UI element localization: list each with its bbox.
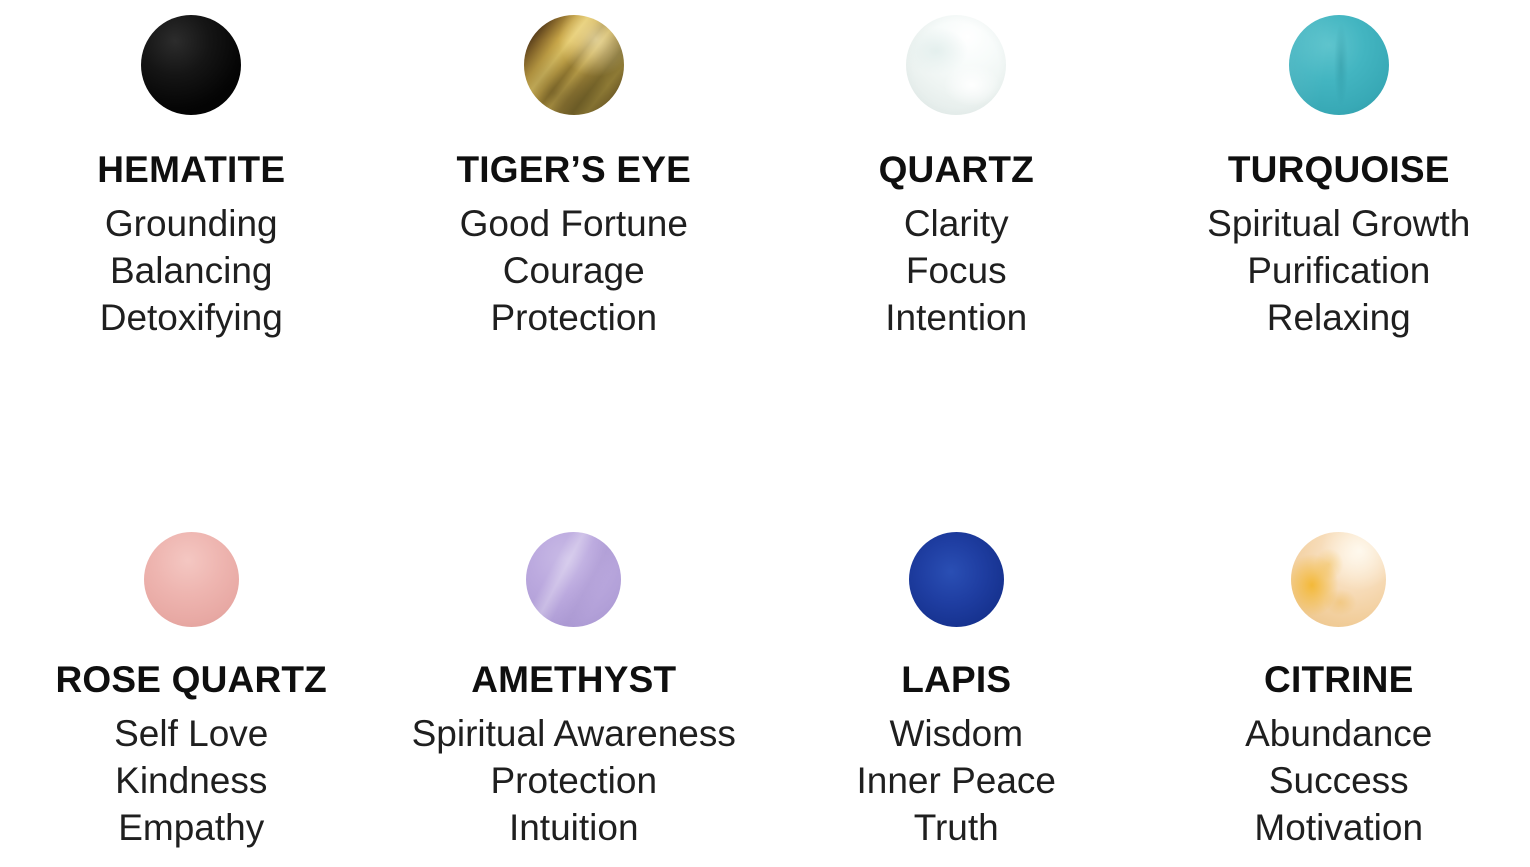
stone-property: Wisdom bbox=[856, 710, 1056, 757]
stone-image-slot bbox=[1289, 0, 1389, 120]
stone-property: Motivation bbox=[1245, 804, 1432, 851]
lapis-stone-icon bbox=[909, 532, 1004, 627]
stone-properties-tigers-eye: Good Fortune Courage Protection bbox=[460, 200, 688, 341]
stone-properties-lapis: Wisdom Inner Peace Truth bbox=[856, 710, 1056, 851]
stone-row-bottom: ROSE QUARTZ Self Love Kindness Empathy A… bbox=[0, 517, 1530, 851]
stone-property: Focus bbox=[885, 247, 1027, 294]
stone-card-citrine[interactable]: CITRINE Abundance Success Motivation bbox=[1148, 517, 1530, 851]
stone-property: Balancing bbox=[100, 247, 283, 294]
stone-properties-citrine: Abundance Success Motivation bbox=[1245, 710, 1432, 851]
stone-property: Courage bbox=[460, 247, 688, 294]
stone-property: Kindness bbox=[114, 757, 268, 804]
stone-card-turquoise[interactable]: TURQUOISE Spiritual Growth Purification … bbox=[1148, 0, 1530, 341]
stone-property: Spiritual Awareness bbox=[412, 710, 736, 757]
stone-property: Protection bbox=[412, 757, 736, 804]
stone-row-top: HEMATITE Grounding Balancing Detoxifying… bbox=[0, 0, 1530, 341]
hematite-stone-icon bbox=[141, 15, 241, 115]
stone-property: Good Fortune bbox=[460, 200, 688, 247]
stone-image-slot bbox=[906, 0, 1006, 120]
stone-card-quartz[interactable]: QUARTZ Clarity Focus Intention bbox=[765, 0, 1148, 341]
stone-image-slot bbox=[141, 0, 241, 120]
stone-properties-amethyst: Spiritual Awareness Protection Intuition bbox=[412, 710, 736, 851]
stone-card-rose-quartz[interactable]: ROSE QUARTZ Self Love Kindness Empathy bbox=[0, 517, 383, 851]
gemstone-properties-chart: HEMATITE Grounding Balancing Detoxifying… bbox=[0, 0, 1530, 867]
stone-name-tigers-eye: TIGER’S EYE bbox=[456, 151, 691, 188]
stone-property: Abundance bbox=[1245, 710, 1432, 757]
stone-properties-rose-quartz: Self Love Kindness Empathy bbox=[114, 710, 268, 851]
stone-name-hematite: HEMATITE bbox=[97, 151, 285, 188]
stone-name-quartz: QUARTZ bbox=[879, 151, 1034, 188]
stone-property: Self Love bbox=[114, 710, 268, 757]
stone-card-amethyst[interactable]: AMETHYST Spiritual Awareness Protection … bbox=[383, 517, 766, 851]
citrine-stone-icon bbox=[1291, 532, 1386, 627]
stone-image-slot bbox=[909, 517, 1004, 629]
tigers-eye-stone-icon bbox=[524, 15, 624, 115]
stone-property: Intention bbox=[885, 294, 1027, 341]
stone-property: Intuition bbox=[412, 804, 736, 851]
stone-property: Detoxifying bbox=[100, 294, 283, 341]
stone-name-turquoise: TURQUOISE bbox=[1228, 151, 1450, 188]
stone-property: Truth bbox=[856, 804, 1056, 851]
stone-property: Spiritual Growth bbox=[1207, 200, 1470, 247]
stone-property: Purification bbox=[1207, 247, 1470, 294]
stone-property: Inner Peace bbox=[856, 757, 1056, 804]
stone-name-amethyst: AMETHYST bbox=[471, 661, 676, 698]
stone-image-slot bbox=[144, 517, 239, 629]
stone-name-rose-quartz: ROSE QUARTZ bbox=[56, 661, 327, 698]
stone-image-slot bbox=[524, 0, 624, 120]
stone-image-slot bbox=[1291, 517, 1386, 629]
stone-name-citrine: CITRINE bbox=[1264, 661, 1413, 698]
amethyst-stone-icon bbox=[526, 532, 621, 627]
stone-property: Grounding bbox=[100, 200, 283, 247]
stone-properties-hematite: Grounding Balancing Detoxifying bbox=[100, 200, 283, 341]
stone-property: Protection bbox=[460, 294, 688, 341]
stone-card-hematite[interactable]: HEMATITE Grounding Balancing Detoxifying bbox=[0, 0, 383, 341]
stone-property: Relaxing bbox=[1207, 294, 1470, 341]
stone-image-slot bbox=[526, 517, 621, 629]
rose-quartz-stone-icon bbox=[144, 532, 239, 627]
stone-properties-quartz: Clarity Focus Intention bbox=[885, 200, 1027, 341]
stone-name-lapis: LAPIS bbox=[901, 661, 1011, 698]
stone-card-lapis[interactable]: LAPIS Wisdom Inner Peace Truth bbox=[765, 517, 1148, 851]
stone-property: Success bbox=[1245, 757, 1432, 804]
turquoise-stone-icon bbox=[1289, 15, 1389, 115]
stone-property: Empathy bbox=[114, 804, 268, 851]
stone-card-tigers-eye[interactable]: TIGER’S EYE Good Fortune Courage Protect… bbox=[383, 0, 766, 341]
stone-property: Clarity bbox=[885, 200, 1027, 247]
quartz-stone-icon bbox=[906, 15, 1006, 115]
stone-properties-turquoise: Spiritual Growth Purification Relaxing bbox=[1207, 200, 1470, 341]
